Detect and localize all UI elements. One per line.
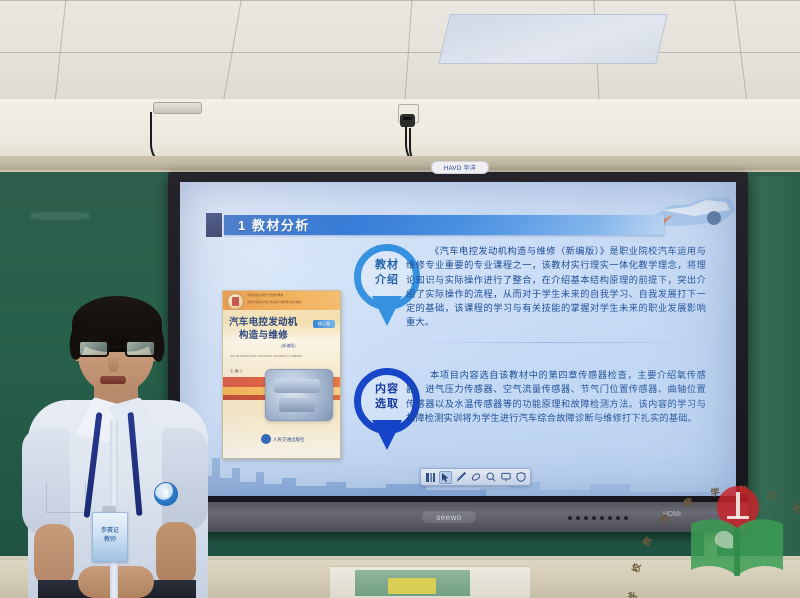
book-publisher: 人民交通出版社 (273, 437, 305, 443)
pin-tail-icon (372, 296, 402, 326)
sleeve-right (162, 428, 208, 532)
brand-sticker-top: HAVO 华洋 (431, 161, 489, 174)
nose (108, 358, 119, 372)
book-engine-photo (265, 369, 333, 421)
screen-icon[interactable] (499, 471, 512, 484)
desk-yellow-object (388, 578, 436, 594)
book-edition-badge: 修订版 (313, 320, 335, 328)
ceiling-light-panel (438, 14, 668, 64)
book-author: 主 编 ◎ (230, 369, 242, 374)
book-title-line1: 汽车电控发动机 (229, 316, 319, 329)
book-subtitle: (新编版) (281, 343, 296, 349)
presentation-slide: 1 教材分析 中国职业技术教育学会推荐教材 全国中等职业学校汽车运用与维修专业系… (180, 182, 736, 496)
paragraph-content-selection: 本项目内容选自该教材中的第四章传感器检查，主要介绍氧传感器、进气压力传感器、空气… (406, 368, 706, 425)
shirt-pocket (46, 482, 86, 513)
magnifier-icon[interactable] (484, 471, 497, 484)
book-seal-emblem (227, 293, 244, 310)
paragraph-divider (408, 342, 704, 343)
watermark-logo: 广东省中等职业学校教师教学能力比赛 (675, 480, 800, 598)
monitor-brand-logo: seewo (422, 511, 476, 523)
classroom-photo-scene: HAVO 华洋 (0, 0, 800, 598)
chest-badge-number: 9 (163, 489, 169, 500)
book-series-line2: 全国中等职业学校汽车运用与维修专业系列教材 (247, 301, 337, 306)
interactive-flat-panel[interactable]: HAVO 华洋 (168, 172, 748, 532)
book-english-title: QICHE DIANKONG FADONGJI GOUZAO YU WEIXIU (230, 354, 333, 359)
watermark-book-icon (687, 514, 787, 580)
book-series-line1: 中国职业技术教育学会推荐教材 (247, 294, 337, 299)
arm-left (34, 524, 74, 586)
lens-right (125, 340, 156, 357)
mouth (100, 376, 126, 384)
ceiling (0, 0, 800, 100)
publisher-logo-icon (261, 434, 271, 444)
eraser-icon[interactable] (469, 471, 482, 484)
whiteboard-toolbar[interactable] (420, 468, 531, 486)
slide-title: 1 教材分析 (238, 216, 310, 235)
glasses-bridge (109, 346, 125, 348)
pen-icon[interactable] (454, 471, 467, 484)
watermark-char: 比 (790, 500, 800, 516)
chest-badge: 9 (154, 482, 178, 506)
watermark-char: 力 (765, 487, 778, 502)
monitor-screen[interactable]: 1 教材分析 中国职业技术教育学会推荐教材 全国中等职业学校汽车运用与维修专业系… (180, 182, 736, 496)
lens-left (78, 340, 109, 357)
watermark-char: 教 (681, 494, 695, 510)
watermark-char: 学 (625, 592, 638, 598)
cursor-icon[interactable] (439, 471, 452, 484)
monitor-port-row (568, 514, 658, 521)
presenter-person: 9 参赛证 教师 (20, 300, 210, 598)
shield-icon[interactable] (514, 471, 527, 484)
eyeglasses (78, 340, 156, 357)
id-card-text: 参赛证 教师 (93, 527, 127, 545)
id-card: 参赛证 教师 (92, 512, 128, 562)
title-accent-square (206, 213, 222, 237)
textbook-cover-image: 中国职业技术教育学会推荐教材 全国中等职业学校汽车运用与维修专业系列教材 汽车电… (222, 290, 341, 459)
paragraph-textbook-intro: 《汽车电控发动机构造与维修（新编版）》是职业院校汽车运用与维修专业重要的专业课程… (406, 244, 706, 330)
pin-tail-icon (372, 420, 402, 450)
arm-right (156, 522, 196, 586)
apps-icon[interactable] (424, 471, 437, 484)
book-title-line2: 构造与维修 (239, 329, 329, 342)
